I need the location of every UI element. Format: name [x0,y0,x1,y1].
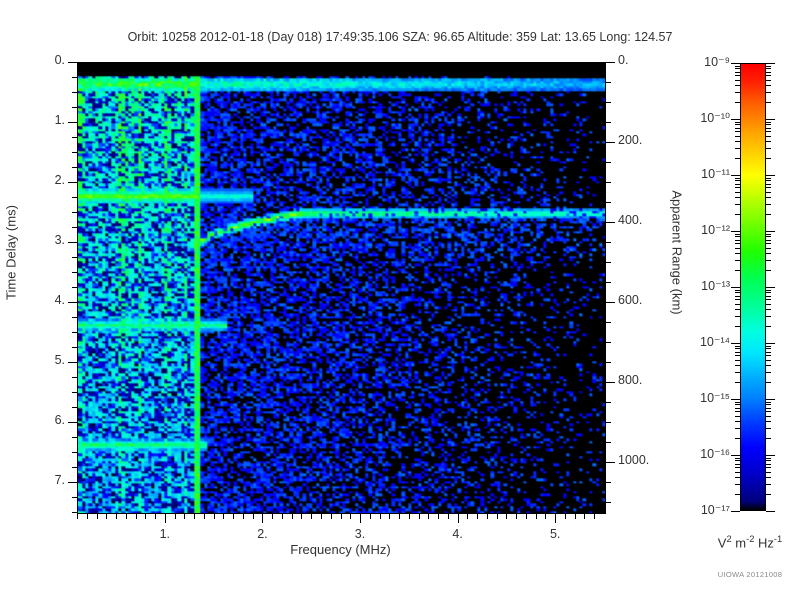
colorbar-minor-tick-right [766,260,771,261]
x-minor-tick [516,514,517,519]
colorbar-tick-label-7: 10⁻¹⁰ [668,110,730,125]
x-major-tick [262,514,263,523]
y-right-major-tick [606,382,615,383]
colorbar-minor-tick-right [766,372,771,373]
colorbar-minor-tick-right [766,346,771,347]
colorbar-minor-tick-left [735,299,740,300]
colorbar-minor-tick-left [735,472,740,473]
colorbar-minor-tick-left [735,309,740,310]
colorbar-minor-tick-right [766,458,771,459]
colorbar-minor-tick-left [735,352,740,353]
colorbar-minor-tick-left [735,178,740,179]
x-minor-tick [116,514,117,519]
x-minor-tick [409,514,410,519]
x-minor-tick [497,514,498,519]
colorbar-minor-tick-right [766,411,771,412]
colorbar-minor-tick-right [766,248,771,249]
y-left-major-tick [68,302,77,303]
colorbar-minor-tick-right [766,204,771,205]
colorbar-minor-tick-right [766,66,771,67]
colorbar-minor-tick-right [766,316,771,317]
colorbar-minor-tick-right [766,192,771,193]
colorbar-minor-tick-left [735,214,740,215]
colorbar-minor-tick-right [766,214,771,215]
x-minor-tick [575,514,576,519]
colorbar-minor-tick-right [766,234,771,235]
colorbar-minor-tick-right [766,309,771,310]
x-minor-tick [223,514,224,519]
y-left-tick-label-7: 7. [10,473,65,487]
y-left-minor-tick [72,497,77,498]
colorbar-minor-tick-right [766,75,771,76]
y-left-major-tick [68,422,77,423]
colorbar-major-tick-left-3 [731,343,740,344]
y-right-minor-tick [606,422,611,423]
colorbar-minor-tick-left [735,187,740,188]
x-minor-tick [272,514,273,519]
colorbar-minor-tick-left [735,148,740,149]
y-axis-right-title: Apparent Range (km) [670,163,685,343]
x-tick-label-0: 1. [135,527,195,541]
colorbar-minor-tick-right [766,253,771,254]
y-left-major-tick [68,242,77,243]
colorbar-minor-tick-left [735,296,740,297]
colorbar-minor-tick-right [766,438,771,439]
colorbar-major-tick-left-7 [731,119,740,120]
plot-header: Orbit: 10258 2012-01-18 (Day 018) 17:49:… [0,30,800,44]
colorbar-major-tick-right-3 [766,343,775,344]
colorbar-tick-label-4: 10⁻¹³ [668,278,730,293]
colorbar-container [740,63,766,511]
colorbar-minor-tick-right [766,296,771,297]
colorbar-minor-tick-right [766,326,771,327]
x-minor-tick [448,514,449,519]
y-left-tick-label-1: 1. [10,113,65,127]
colorbar-minor-tick-right [766,92,771,93]
x-minor-tick [194,514,195,519]
y-left-minor-tick [72,167,77,168]
colorbar-minor-tick-right [766,408,771,409]
colorbar-minor-tick-right [766,355,771,356]
colorbar-minor-tick-right [766,477,771,478]
colorbar-minor-tick-right [766,484,771,485]
y-left-tick-label-3: 3. [10,233,65,247]
x-minor-tick [253,514,254,519]
x-minor-tick [233,514,234,519]
colorbar-minor-tick-left [735,304,740,305]
y-right-tick-label-1: 200. [618,133,678,147]
colorbar-major-tick-right-5 [766,231,775,232]
colorbar-minor-tick-left [735,467,740,468]
colorbar-minor-tick-left [735,348,740,349]
colorbar-minor-tick-right [766,382,771,383]
x-minor-tick [175,514,176,519]
x-minor-tick [184,514,185,519]
colorbar-major-tick-right-2 [766,399,775,400]
x-minor-tick [380,514,381,519]
x-tick-label-4: 5. [525,527,585,541]
y-right-minor-tick [606,82,611,83]
y-right-minor-tick [606,482,611,483]
x-major-tick [555,514,556,523]
y-right-minor-tick [606,242,611,243]
colorbar-minor-tick-right [766,348,771,349]
y-right-major-tick [606,462,615,463]
colorbar-minor-tick-left [735,404,740,405]
colorbar-minor-tick-left [735,316,740,317]
colorbar-minor-tick-left [735,458,740,459]
colorbar-minor-tick-left [735,438,740,439]
colorbar-minor-tick-left [735,72,740,73]
y-left-minor-tick [72,332,77,333]
colorbar-minor-tick-right [766,428,771,429]
y-right-tick-label-4: 800. [618,373,678,387]
y-right-minor-tick [606,442,611,443]
y-right-major-tick [606,62,615,63]
colorbar-minor-tick-right [766,404,771,405]
y-right-minor-tick [606,402,611,403]
x-tick-label-1: 2. [232,527,292,541]
colorbar-minor-tick-right [766,184,771,185]
colorbar-minor-tick-right [766,299,771,300]
y-right-minor-tick [606,282,611,283]
colorbar-minor-tick-left [735,204,740,205]
y-left-major-tick [68,122,77,123]
colorbar-minor-tick-right [766,122,771,123]
y-right-major-tick [606,142,615,143]
colorbar-minor-tick-right [766,128,771,129]
x-major-tick [458,514,459,523]
x-minor-tick [526,514,527,519]
y-left-minor-tick [72,152,77,153]
y-right-minor-tick [606,322,611,323]
colorbar-minor-tick-left [735,236,740,237]
y-right-tick-label-3: 600. [618,293,678,307]
y-left-minor-tick [72,347,77,348]
colorbar-minor-tick-left [735,253,740,254]
y-left-major-tick [68,362,77,363]
colorbar-minor-tick-left [735,428,740,429]
colorbar-major-tick-right-7 [766,119,775,120]
colorbar-major-tick-right-4 [766,287,775,288]
colorbar-minor-tick-right [766,136,771,137]
colorbar-minor-tick-right [766,141,771,142]
x-major-tick [360,514,361,523]
colorbar-unit-label: V2 m-2 Hz-1 [690,534,800,550]
y-right-minor-tick [606,102,611,103]
x-minor-tick [321,514,322,519]
colorbar-minor-tick-left [735,355,740,356]
colorbar-minor-tick-left [735,464,740,465]
colorbar-tick-label-0: 10⁻¹⁷ [668,502,730,517]
y-left-tick-label-6: 6. [10,413,65,427]
y-left-minor-tick [72,92,77,93]
x-minor-tick [594,514,595,519]
x-minor-tick [155,514,156,519]
colorbar-minor-tick-left [735,92,740,93]
y-left-minor-tick [72,377,77,378]
y-left-tick-label-4: 4. [10,293,65,307]
colorbar-major-tick-right-6 [766,175,775,176]
colorbar-minor-tick-left [735,408,740,409]
colorbar-minor-tick-right [766,72,771,73]
colorbar-minor-tick-right [766,464,771,465]
colorbar-minor-tick-right [766,402,771,403]
x-minor-tick [584,514,585,519]
colorbar-minor-tick-left [735,326,740,327]
x-minor-tick [399,514,400,519]
colorbar-minor-tick-right [766,416,771,417]
x-minor-tick [204,514,205,519]
colorbar-minor-tick-left [735,382,740,383]
x-minor-tick [282,514,283,519]
radargram-plot-area [77,62,606,514]
colorbar-minor-tick-right [766,472,771,473]
colorbar-minor-tick-left [735,75,740,76]
colorbar-tick-label-5: 10⁻¹² [668,222,730,237]
colorbar-minor-tick-left [735,180,740,181]
colorbar-minor-tick-left [735,248,740,249]
x-minor-tick [126,514,127,519]
colorbar-minor-tick-right [766,148,771,149]
x-minor-tick [428,514,429,519]
colorbar-minor-tick-right [766,187,771,188]
colorbar-minor-tick-right [766,460,771,461]
colorbar-minor-tick-right [766,236,771,237]
colorbar-minor-tick-right [766,365,771,366]
y-left-major-tick [68,182,77,183]
x-minor-tick [506,514,507,519]
y-left-minor-tick [72,407,77,408]
x-tick-label-3: 4. [428,527,488,541]
y-left-minor-tick [72,272,77,273]
x-minor-tick [292,514,293,519]
colorbar-minor-tick-left [735,136,740,137]
colorbar-minor-tick-right [766,304,771,305]
y-left-minor-tick [72,77,77,78]
colorbar-minor-tick-left [735,243,740,244]
colorbar-minor-tick-left [735,68,740,69]
y-right-minor-tick [606,262,611,263]
x-tick-label-2: 3. [330,527,390,541]
colorbar-minor-tick-left [735,346,740,347]
colorbar-minor-tick-left [735,197,740,198]
y-axis-left-title: Time Delay (ms) [4,173,19,333]
colorbar-minor-tick-right [766,270,771,271]
colorbar-minor-tick-left [735,260,740,261]
y-left-minor-tick [72,287,77,288]
y-left-minor-tick [72,227,77,228]
colorbar-major-tick-left-4 [731,287,740,288]
colorbar-minor-tick-right [766,197,771,198]
x-minor-tick [536,514,537,519]
y-right-major-tick [606,222,615,223]
y-left-minor-tick [72,212,77,213]
x-minor-tick [419,514,420,519]
colorbar-minor-tick-left [735,240,740,241]
x-major-tick [165,514,166,523]
x-axis-title: Frequency (MHz) [77,542,604,557]
colorbar-minor-tick-right [766,68,771,69]
colorbar-minor-tick-left [735,421,740,422]
header-text: Orbit: 10258 2012-01-18 (Day 018) 17:49:… [128,30,673,44]
colorbar-minor-tick-right [766,494,771,495]
colorbar-minor-tick-left [735,102,740,103]
colorbar-minor-tick-right [766,124,771,125]
x-minor-tick [487,514,488,519]
colorbar-major-tick-left-1 [731,455,740,456]
x-minor-tick [77,514,78,519]
x-minor-tick [467,514,468,519]
y-left-minor-tick [72,452,77,453]
colorbar-minor-tick-left [735,66,740,67]
colorbar-major-tick-right-0 [766,511,775,512]
colorbar-major-tick-left-2 [731,399,740,400]
colorbar-minor-tick-left [735,292,740,293]
y-left-major-tick [68,482,77,483]
y-left-minor-tick [72,137,77,138]
colorbar-major-tick-left-6 [731,175,740,176]
y-right-minor-tick [606,342,611,343]
colorbar-minor-tick-left [735,158,740,159]
colorbar-minor-tick-right [766,178,771,179]
colorbar-minor-tick-right [766,292,771,293]
x-minor-tick [331,514,332,519]
colorbar-major-tick-left-5 [731,231,740,232]
x-minor-tick [389,514,390,519]
colorbar-tick-label-6: 10⁻¹¹ [668,166,730,181]
colorbar-major-tick-left-0 [731,511,740,512]
y-left-tick-label-2: 2. [10,173,65,187]
colorbar-minor-tick-left [735,402,740,403]
colorbar-minor-tick-right [766,243,771,244]
colorbar-minor-tick-right [766,131,771,132]
x-minor-tick [341,514,342,519]
colorbar-minor-tick-right [766,80,771,81]
x-minor-tick [565,514,566,519]
y-right-minor-tick [606,122,611,123]
x-minor-tick [145,514,146,519]
y-right-minor-tick [606,202,611,203]
x-minor-tick [87,514,88,519]
x-minor-tick [106,514,107,519]
y-left-minor-tick [72,392,77,393]
x-minor-tick [136,514,137,519]
x-minor-tick [214,514,215,519]
colorbar-minor-tick-left [735,372,740,373]
colorbar-minor-tick-left [735,477,740,478]
y-right-minor-tick [606,182,611,183]
colorbar-major-tick-left-8 [731,63,740,64]
colorbar-minor-tick-left [735,270,740,271]
y-left-tick-label-0: 0. [10,53,65,67]
colorbar-minor-tick-right [766,240,771,241]
y-left-tick-label-5: 5. [10,353,65,367]
radargram-heatmap-canvas [78,63,605,513]
colorbar-tick-label-1: 10⁻¹⁶ [668,446,730,461]
y-left-minor-tick [72,467,77,468]
colorbar-minor-tick-left [735,234,740,235]
colorbar-minor-tick-left [735,141,740,142]
colorbar-minor-tick-left [735,365,740,366]
colorbar-minor-tick-right [766,158,771,159]
colorbar-minor-tick-left [735,494,740,495]
x-minor-tick [243,514,244,519]
x-minor-tick [97,514,98,519]
colorbar-minor-tick-left [735,484,740,485]
colorbar-minor-tick-left [735,80,740,81]
colorbar-minor-tick-left [735,122,740,123]
colorbar-minor-tick-right [766,290,771,291]
y-left-major-tick [68,62,77,63]
colorbar-tick-label-3: 10⁻¹⁴ [668,334,730,349]
colorbar-major-tick-right-1 [766,455,775,456]
x-minor-tick [438,514,439,519]
y-right-minor-tick [606,502,611,503]
colorbar-minor-tick-right [766,85,771,86]
y-right-major-tick [606,302,615,303]
colorbar-major-tick-right-8 [766,63,775,64]
colorbar-tick-label-8: 10⁻⁹ [668,54,730,69]
colorbar-minor-tick-left [735,184,740,185]
y-left-minor-tick [72,257,77,258]
colorbar-minor-tick-right [766,180,771,181]
credit-watermark: UIOWA 20121008 [690,570,800,579]
colorbar-minor-tick-right [766,467,771,468]
colorbar-gradient [740,63,766,511]
colorbar-minor-tick-left [735,192,740,193]
y-right-minor-tick [606,162,611,163]
x-minor-tick [545,514,546,519]
x-minor-tick [350,514,351,519]
colorbar-minor-tick-left [735,128,740,129]
colorbar-minor-tick-right [766,352,771,353]
x-minor-tick [477,514,478,519]
y-right-minor-tick [606,362,611,363]
colorbar-minor-tick-left [735,131,740,132]
y-left-minor-tick [72,317,77,318]
colorbar-minor-tick-right [766,360,771,361]
colorbar-minor-tick-left [735,411,740,412]
y-left-minor-tick [72,512,77,513]
colorbar-minor-tick-right [766,421,771,422]
x-minor-tick [301,514,302,519]
x-minor-tick [370,514,371,519]
y-left-minor-tick [72,197,77,198]
x-minor-tick [311,514,312,519]
y-left-minor-tick [72,437,77,438]
colorbar-minor-tick-left [735,416,740,417]
colorbar-minor-tick-left [735,360,740,361]
colorbar-minor-tick-left [735,124,740,125]
colorbar-minor-tick-left [735,460,740,461]
colorbar-tick-label-2: 10⁻¹⁵ [668,390,730,405]
y-left-minor-tick [72,107,77,108]
colorbar-minor-tick-right [766,102,771,103]
colorbar-minor-tick-left [735,290,740,291]
colorbar-minor-tick-left [735,85,740,86]
